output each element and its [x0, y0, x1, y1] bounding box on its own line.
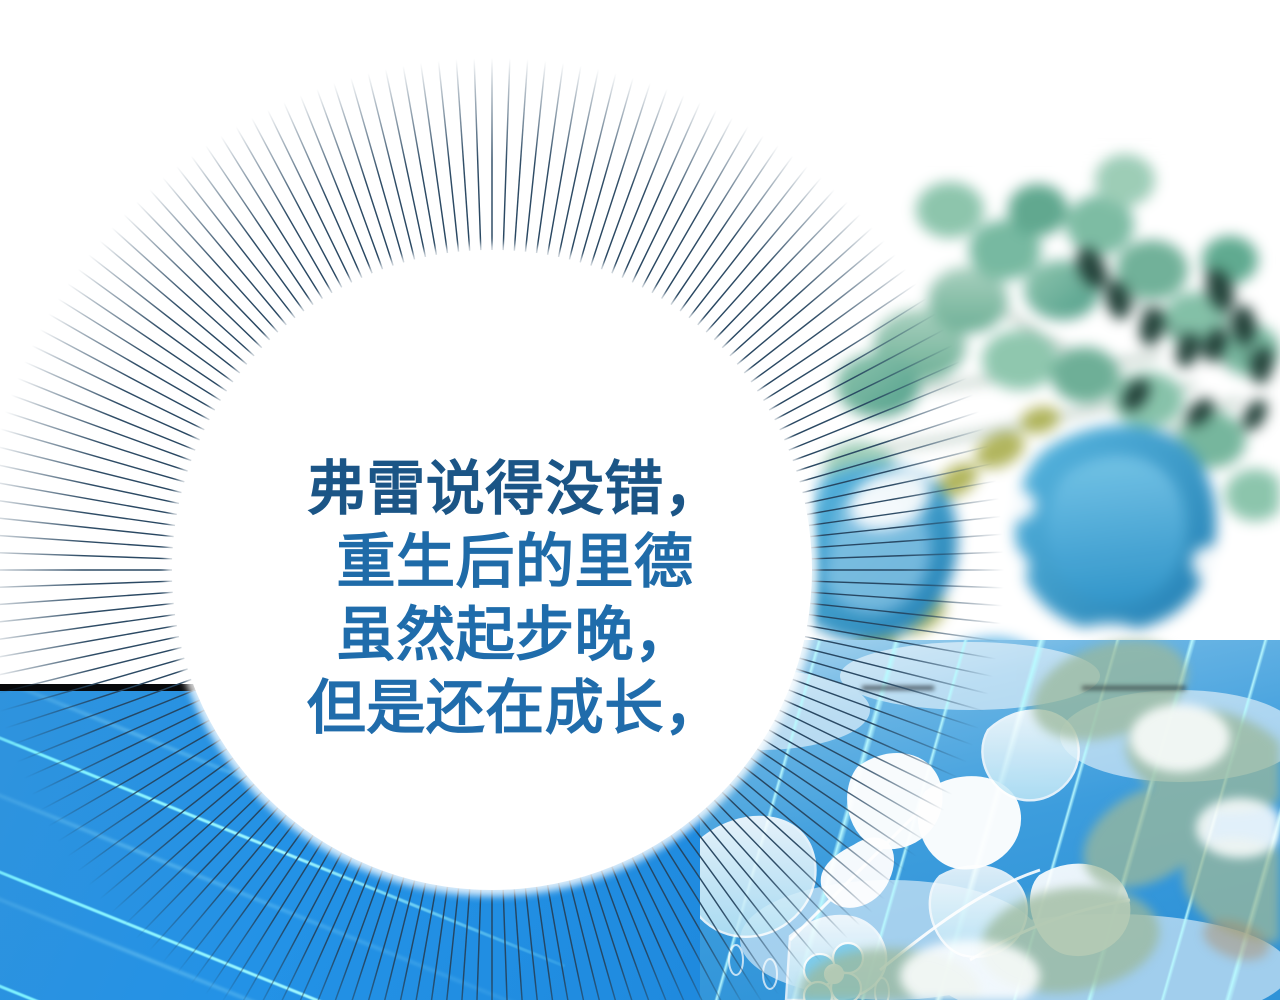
foliage-artwork: [800, 150, 1280, 710]
quote-line-3: 虽然起步晚，: [300, 606, 730, 665]
quote-line-1: 弗雷说得没错，: [300, 460, 730, 519]
quote-line-2: 重生后的里德: [300, 533, 730, 592]
quote-line-4: 但是还在成长，: [300, 679, 730, 738]
horizontal-black-rule-segment: [1082, 686, 1186, 690]
horizontal-black-rule-segment: [862, 686, 934, 690]
speech-bubble-quote: 弗雷说得没错， 重生后的里德 虽然起步晚， 但是还在成长，: [300, 460, 730, 738]
comic-panel: 弗雷说得没错， 重生后的里德 虽然起步晚， 但是还在成长，: [0, 0, 1280, 1000]
